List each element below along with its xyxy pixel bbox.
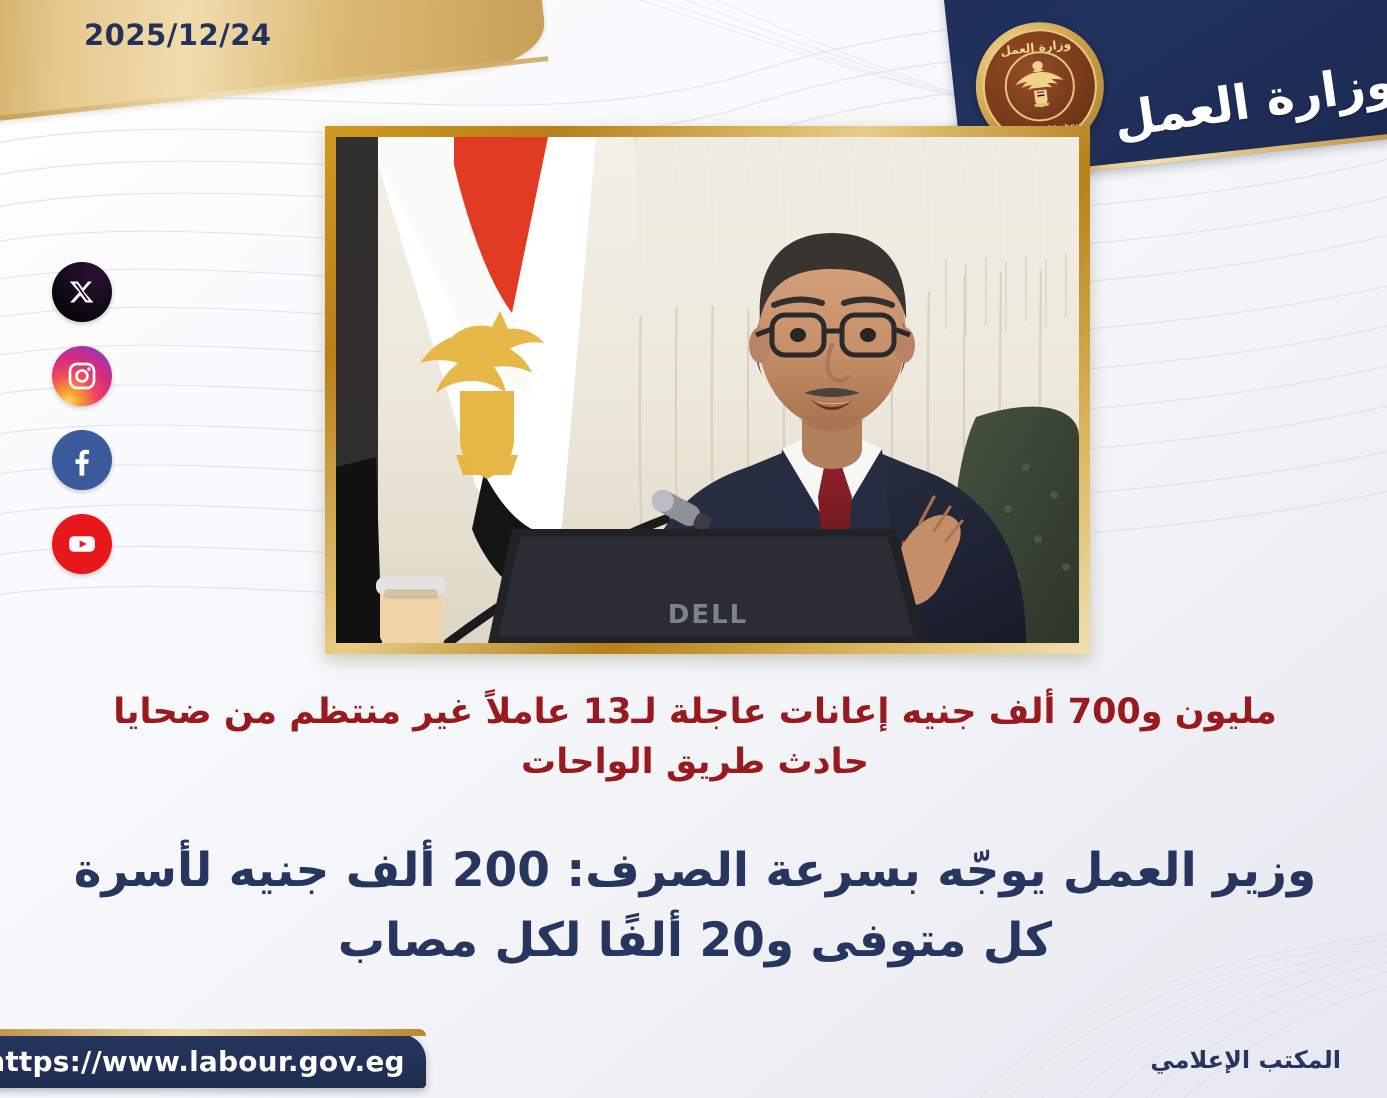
svg-text:DELL: DELL xyxy=(668,600,748,630)
announcement-card: 2025/12/24 وزارة العمل xyxy=(0,0,1387,1098)
publish-date: 2025/12/24 xyxy=(84,18,272,52)
social-link-x-twitter[interactable] xyxy=(52,262,112,322)
social-links xyxy=(52,262,112,574)
x-icon xyxy=(68,278,96,306)
date-banner-shape xyxy=(0,0,549,126)
ministry-name-arabic: وزارة العمل xyxy=(1111,60,1387,148)
photo-frame: DELL xyxy=(325,126,1090,654)
social-link-instagram[interactable] xyxy=(52,346,112,406)
headline-text: مليون و700 ألف جنيه إعانات عاجلة لـ13 عا… xyxy=(70,688,1320,787)
website-url: https://www.labour.gov.eg xyxy=(0,1045,419,1078)
social-link-facebook[interactable] xyxy=(52,430,112,490)
subheadline-text: وزير العمل يوجّه بسرعة الصرف: 200 ألف جن… xyxy=(40,836,1350,975)
youtube-icon xyxy=(66,528,98,560)
website-url-bar[interactable]: https://www.labour.gov.eg xyxy=(0,1034,426,1088)
facebook-icon xyxy=(65,443,99,477)
instagram-icon xyxy=(66,360,98,392)
eagle-emblem-icon xyxy=(1005,50,1073,118)
media-office-label: المكتب الإعلامي xyxy=(1150,1046,1341,1074)
minister-photo: DELL xyxy=(336,137,1079,643)
social-link-youtube[interactable] xyxy=(52,514,112,574)
